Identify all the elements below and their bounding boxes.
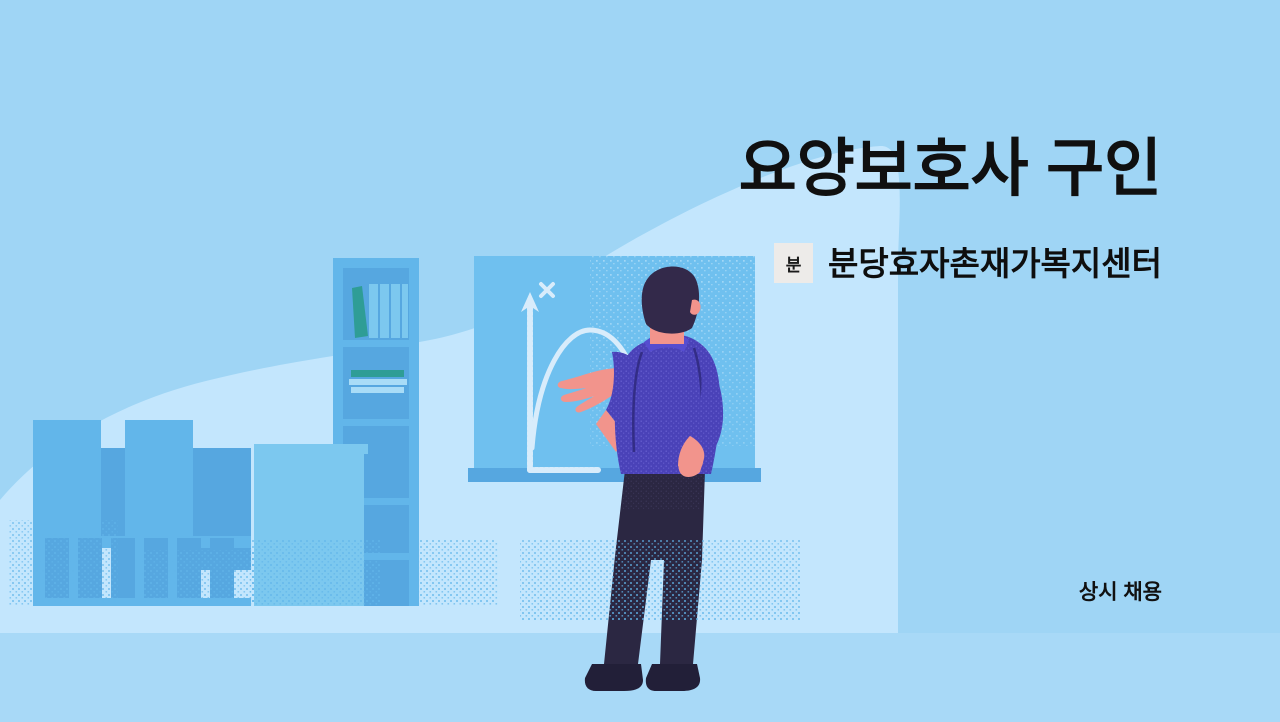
office-illustration [0,0,1280,722]
floor-speckle [520,540,800,620]
poster-canvas: 요양보호사 구인 분 분당효자촌재가복지센터 상시 채용 [0,0,1280,722]
books-stacked [349,370,407,393]
head [642,266,701,333]
books-upright [352,284,408,338]
desk-speckle [250,540,498,606]
